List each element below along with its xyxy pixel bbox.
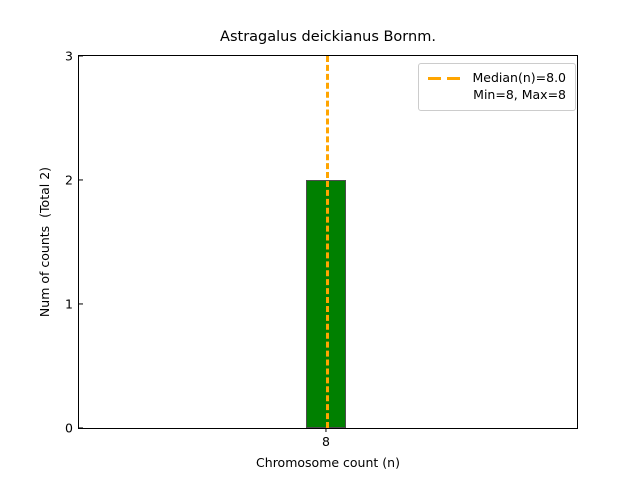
chart-figure: Astragalus deickianus Bornm. 3 2 1 0 8	[0, 0, 640, 480]
y-tick-label: 1	[65, 296, 73, 311]
y-tick-line	[79, 427, 83, 428]
x-axis-label: Chromosome count (n)	[78, 455, 578, 470]
y-tick-label: 3	[65, 49, 73, 64]
y-tick-label: 0	[65, 421, 73, 436]
y-tick-label: 2	[65, 172, 73, 187]
y-axis-label: Num of counts (Total 2)	[22, 55, 66, 429]
y-axis-label-line2: (Total 2)	[37, 167, 52, 218]
legend: Median(n)=8.0 Min=8, Max=8	[418, 63, 577, 111]
y-axis-label-line1: Num of counts	[37, 226, 52, 317]
median-line	[326, 56, 329, 428]
x-tick-label: 8	[322, 434, 330, 449]
dashed-line-icon	[428, 72, 464, 84]
x-tick-line	[325, 428, 326, 432]
y-tick-line	[79, 55, 83, 56]
legend-label-minmax: Min=8, Max=8	[473, 87, 566, 104]
legend-entry-median: Median(n)=8.0	[428, 70, 567, 87]
chart-title: Astragalus deickianus Bornm.	[78, 29, 578, 45]
legend-entry-minmax: Min=8, Max=8	[428, 87, 567, 104]
y-tick-line	[79, 303, 83, 304]
y-tick-line	[79, 179, 83, 180]
plot-area: 3 2 1 0 8 Median(n)=	[78, 55, 578, 429]
legend-label-median: Median(n)=8.0	[473, 70, 567, 87]
